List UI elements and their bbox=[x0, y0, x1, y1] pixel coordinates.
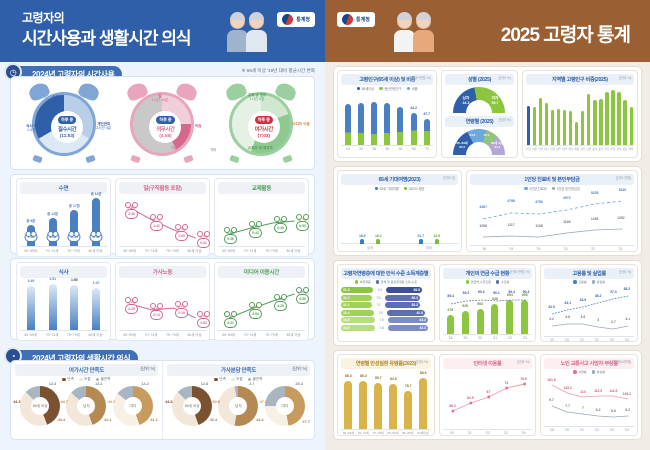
bar bbox=[599, 99, 602, 145]
point-label: 32.9 bbox=[548, 305, 555, 309]
chart-gender: 성별 (2025) (단위: %) 남자44.3 여자55.7 bbox=[445, 74, 513, 113]
donut-chart: 남자 44.7 42.1 13.2 bbox=[66, 386, 106, 426]
x-tick: 65~69세 bbox=[123, 248, 136, 253]
x-tick: 울산 bbox=[568, 147, 573, 151]
bar bbox=[384, 103, 390, 145]
chart-elderly-population: 고령인구(65세 이상) 및 비중 (단위: 만명, %) 65세이상 생산연령… bbox=[337, 70, 437, 158]
point-label: 6.2 bbox=[596, 408, 601, 412]
chart-title: 1인당 진료비 및 본인부담금 (단위: 천원) bbox=[470, 174, 634, 185]
x-tick: '22 bbox=[508, 336, 512, 340]
right-title: 2025 고령자 통계 bbox=[501, 20, 630, 47]
bar: 44.2 bbox=[411, 113, 417, 145]
chart-legend: 하위계층 전체 및 중상위계층 소득 수준 bbox=[341, 280, 431, 284]
point-3: 증 4분 0:31 bbox=[197, 233, 210, 248]
hbar-row: 33.4 '20 40.8 bbox=[341, 310, 431, 316]
x-tick: '15 bbox=[345, 147, 349, 151]
unit-label: (단위: 천원) bbox=[616, 176, 631, 181]
hbar-left: 31.6 bbox=[341, 287, 373, 293]
chart-title: 연령별 만성질환 유병률(2023) (단위: %) bbox=[341, 358, 431, 369]
clock-seg-2: 스포츠 및 레포츠 bbox=[248, 146, 273, 150]
x-tick: 남자 bbox=[367, 245, 373, 250]
bar-group: 1:49 1:51 1:50 1:47 bbox=[20, 280, 107, 330]
segment-label-1: 24.2 bbox=[469, 133, 475, 137]
chart-media: 미디어 이용시간 증 11분 3:21 증 18분 3:54 증 19분 bbox=[214, 262, 309, 341]
right-row-2: 65세 기대여명(2023) (단위: 년) 65세 기대여명 OECD 평균 … bbox=[333, 166, 642, 256]
bar bbox=[587, 94, 590, 145]
clock-tag: 하루 중 bbox=[58, 116, 76, 124]
agency-label: 통계청 bbox=[296, 16, 310, 23]
x-tick: 경기 bbox=[580, 147, 585, 151]
x-tick: '23 bbox=[618, 247, 622, 251]
elderly-couple-illustration bbox=[230, 14, 267, 52]
donut-center-label: 남자 bbox=[229, 397, 247, 415]
donut-value: 44.7 bbox=[60, 400, 67, 404]
donut-value: 44.7 bbox=[108, 400, 115, 404]
chart-work: 일(구직활동 포함) 증 8분 2:35 증 7분 1:42 증 9분 bbox=[115, 178, 210, 257]
left-header: 고령자의 시간사용과 생활시간 의식 통계청 bbox=[0, 0, 325, 62]
x-tick: 70~74세 bbox=[46, 332, 59, 337]
clock-foot-left bbox=[131, 155, 142, 164]
clock-value: (11:53) bbox=[60, 133, 75, 138]
donut-value: 43.4 bbox=[58, 418, 65, 422]
section1-note: ※ 65세 이상 '19년 대비 평균시간 변화 bbox=[242, 68, 315, 74]
donut-chart: 65세 이상 44.8 42.4 12.8 bbox=[172, 386, 212, 426]
year-label: '19 bbox=[377, 318, 386, 322]
hbar-right: 40.8 bbox=[387, 310, 425, 316]
right-panel: 통계청 2025 고령자 통계 고령인구(65세 이상) 및 비중 (단위: 만… bbox=[325, 0, 650, 450]
x-tick: 85~89세 bbox=[402, 431, 413, 435]
x-tick: 전북 bbox=[604, 147, 609, 151]
clock-value: (4:58) bbox=[159, 133, 171, 138]
semi-donut-chart: 65~69세35.3 24.2 16.1 80세 이상24.4 bbox=[453, 129, 505, 155]
x-tick: 65~69세 bbox=[222, 332, 235, 337]
x-axis: 전국 서울 부산 대구 인천 광주 대전 울산 세종 경기 강원 충북 충남 전… bbox=[526, 145, 634, 151]
point-label: 90.3 bbox=[523, 290, 530, 294]
bar: 증 12분 8:08 bbox=[49, 218, 57, 246]
taegeuk-icon bbox=[282, 14, 293, 25]
hbar-group: 31.6 '24 38.8 31.2 '23 38.3 31.1 '21 bbox=[341, 287, 431, 331]
bar bbox=[611, 90, 614, 145]
clock-seg-1: 학습 bbox=[195, 124, 202, 128]
x-tick: 여자 bbox=[426, 245, 432, 250]
x-tick: '19 bbox=[509, 247, 513, 251]
x-axis: '18 '19 '20 '21 '22 '23 bbox=[470, 245, 634, 251]
x-tick: 65~69세 bbox=[123, 332, 136, 337]
line-path bbox=[443, 371, 533, 429]
point-label: 111.5 bbox=[594, 389, 602, 393]
chart-title: 지역별 고령인구 비중(2025) (단위: %) bbox=[526, 74, 634, 85]
bar bbox=[371, 102, 377, 145]
chart-meal: 식사 1:49 1:51 1:50 1:47 bbox=[16, 262, 111, 341]
donut-row: 65세 이상 44.3 43.4 12.3 남자 44.7 42.1 13.2 … bbox=[15, 382, 158, 430]
line-path bbox=[443, 286, 533, 334]
point-label: 3 bbox=[597, 318, 599, 322]
x-tick: '21 bbox=[579, 428, 583, 432]
chart-legend: 1인당 진료비 1인당 본인부담금 bbox=[470, 186, 634, 191]
donut-center-label: 여자 bbox=[276, 397, 294, 415]
x-tick: 80~84세 bbox=[387, 431, 398, 435]
chart-title: 고령자연령층에 대한 인식 수준 소득계층별 bbox=[341, 268, 431, 279]
hbar-left: 33.4 bbox=[341, 310, 374, 316]
chart-plot: 감 5분 0:36 감 6분 0:43 감 5분 0:49 감 4분 0:50 bbox=[218, 196, 305, 246]
donut-value: 12.3 bbox=[49, 382, 56, 386]
year-label: '18 bbox=[377, 326, 386, 330]
x-tick: '20 bbox=[565, 428, 569, 432]
x-tick: 75~79세 bbox=[67, 248, 80, 253]
donut-chart: 남자 52.9 44.4 2.7 bbox=[218, 386, 258, 426]
clock-tag: 하루 중 bbox=[156, 116, 174, 124]
bar bbox=[397, 107, 403, 145]
bar bbox=[630, 107, 633, 145]
point-label: 4756 bbox=[535, 200, 543, 204]
donut-value: 44.3 bbox=[13, 400, 20, 404]
chart-plot: 32.9 34.1 34.9 36.2 37.3 38.2 3.2 3.6 3.… bbox=[544, 286, 634, 336]
chart-legend: 연금액 수급인원 수급률 bbox=[443, 280, 533, 284]
unit-label: (단위: %) bbox=[619, 270, 631, 275]
donut-value: 42.4 bbox=[210, 418, 217, 422]
chart-plot: 56.2 62.5 67 74 76.9 bbox=[443, 371, 533, 429]
right-row-4: 연령별 만성질환 유병률(2023) (단위: %) 86.3 86.2 85.… bbox=[333, 350, 642, 440]
line-paths bbox=[470, 193, 634, 245]
chart-title: 연령별 (2025) (단위: %) bbox=[445, 116, 513, 127]
chart-plot: 161.6 133.2 110 111.5 111.6 106.2 9.7 7.… bbox=[544, 376, 634, 426]
clock-center: 하루 중 필수시간 (11:53) bbox=[51, 111, 83, 143]
x-tick: 75~79세 bbox=[373, 431, 384, 435]
unit-label: (단위: %) bbox=[498, 76, 510, 81]
hbar-right: 38.3 bbox=[385, 295, 420, 301]
chart-plot: 44.2 47.7 bbox=[341, 93, 433, 145]
x-tick: '20 bbox=[478, 336, 482, 340]
bar: 증 17분 8:15 bbox=[70, 210, 78, 246]
point-label: 7.7 bbox=[565, 404, 570, 408]
x-axis: '20 '21 '22 '23 '24 bbox=[443, 429, 533, 435]
x-axis: '15 '20 '25 '30 '40 '50 '72 bbox=[341, 145, 433, 151]
point-label: 5.6 bbox=[611, 409, 616, 413]
x-tick: 전국 bbox=[526, 147, 531, 151]
donut-value: 41.1 bbox=[150, 418, 157, 422]
x-axis: 65~69세 70~74세 75~79세 80세 이상 bbox=[20, 246, 107, 253]
x-tick: 70~74세 bbox=[145, 248, 158, 253]
x-tick: '20 bbox=[536, 247, 540, 251]
bar: 증 11분 8:46 bbox=[92, 198, 100, 246]
clock-value: (7:03) bbox=[258, 133, 270, 138]
clock-label: 필수시간 bbox=[58, 125, 76, 133]
point-0: 증 11분 3:21 bbox=[224, 313, 237, 328]
point-label: 161.6 bbox=[547, 378, 556, 382]
chart-legend: 사망률 부상률 bbox=[544, 370, 634, 374]
x-axis: '18 '20 '21 '22 '23 '24 bbox=[544, 426, 634, 432]
x-tick: 80세 이상 bbox=[287, 332, 301, 337]
bar: 1:49 bbox=[27, 286, 35, 330]
clock-seg-0: 수면8시간 bbox=[51, 95, 60, 103]
chart-plot: 증 8분 2:35 증 7분 1:42 증 9분 1:00 증 4분 0:31 bbox=[119, 196, 206, 246]
clock-foot-right bbox=[85, 155, 96, 164]
chart-plot: 감 3분 2:25 감 2분 2:14 감 2분 2:19 감 3분 1:52 bbox=[119, 280, 206, 330]
right-header: 통계청 2025 고령자 통계 bbox=[325, 0, 650, 62]
point-label: 1198 bbox=[563, 220, 570, 224]
point-label: 4487 bbox=[479, 205, 487, 209]
right-row-3: 고령자연령층에 대한 인식 수준 소득계층별 하위계층 전체 및 중상위계층 소… bbox=[333, 260, 642, 346]
point-1: 감 2분 2:14 bbox=[150, 305, 163, 320]
point-label: 106.2 bbox=[623, 392, 632, 396]
point-1: 감 6분 0:43 bbox=[249, 223, 262, 238]
clock-seg-1: 식사 및 간식1시간 49분 bbox=[26, 124, 45, 132]
point-label: 74 bbox=[504, 381, 508, 385]
point-label: 38.2 bbox=[624, 287, 631, 291]
donut-value: 14.2 bbox=[141, 382, 148, 386]
left-title-line2: 시간사용과 생활시간 의식 bbox=[22, 24, 191, 49]
bar: 증 8분 7:56 bbox=[27, 225, 35, 246]
clocks-card: 하루 중 필수시간 (11:53) 수면8시간 식사 및 간식1시간 49분 개… bbox=[10, 76, 315, 170]
x-tick: 부산 bbox=[538, 147, 543, 151]
year-label: '23 bbox=[374, 296, 383, 300]
bar bbox=[569, 111, 572, 145]
x-tick: 세종 bbox=[574, 147, 579, 151]
bar bbox=[545, 103, 548, 145]
x-tick: 80세 이상 bbox=[188, 248, 202, 253]
chart-title: 노인 교통사고 사망자·부상률 (단위: 명/10만명) bbox=[544, 358, 634, 369]
donut-value: 27.7 bbox=[302, 420, 309, 424]
x-tick: '21 bbox=[467, 431, 471, 435]
x-tick: '19 bbox=[550, 338, 554, 342]
point-label: 1252 bbox=[617, 216, 625, 220]
x-tick: 경북 bbox=[616, 147, 621, 151]
x-tick: 70~74세 bbox=[145, 332, 158, 337]
clock-seg-1: 미디어 이용 bbox=[292, 122, 310, 126]
point-label: 36.2 bbox=[595, 294, 602, 298]
kostat-logo: 통계청 bbox=[337, 12, 375, 27]
x-tick: '23 bbox=[609, 338, 613, 342]
chart-internet-usage: 인터넷 이용률 (단위: %) 56.2 62.5 67 74 bbox=[439, 354, 537, 436]
x-tick: '72 bbox=[425, 147, 429, 151]
donut-center-label: 65세 이상 bbox=[183, 397, 201, 415]
clock-obligatory-time: 하루 중 의무시간 (4:58) 일1시간 44분 학습 이동 가사 bbox=[125, 82, 199, 162]
x-tick: 80세 이상 bbox=[287, 248, 301, 253]
charts-row1: 수면 증 8분 7:56 증 12분 8:08 증 17분 8:15 bbox=[11, 175, 314, 260]
chart-plot: 86.3 86.2 85.7 84.8 78.7 88.6 bbox=[341, 371, 431, 429]
x-tick: 75~79세 bbox=[265, 332, 278, 337]
x-tick: '20 bbox=[359, 147, 363, 151]
hbar-left: 31.2 bbox=[341, 295, 372, 301]
chart-title: 성별 (2025) (단위: %) bbox=[445, 74, 513, 85]
point-3: 증 21분 4:50 bbox=[296, 289, 309, 304]
point-label: 90.1 bbox=[493, 291, 500, 295]
x-tick: 대전 bbox=[562, 147, 567, 151]
chart-life-expectancy: 65세 기대여명(2023) (단위: 년) 65세 기대여명 OECD 평균 … bbox=[337, 170, 462, 252]
bar: 85.7 bbox=[374, 383, 382, 429]
bar bbox=[345, 104, 351, 145]
hbar-left: 34.5 bbox=[341, 317, 375, 323]
bar: 84.8 bbox=[389, 384, 397, 429]
x-tick: 대구 bbox=[544, 147, 549, 151]
year-label: '21 bbox=[374, 303, 383, 307]
bar-group: 86.3 86.2 85.7 84.8 78.7 88.6 bbox=[341, 371, 431, 429]
clock-seg-0: 교제 및 참여1시간 5분 bbox=[248, 93, 267, 101]
x-tick: 강원 bbox=[586, 147, 591, 151]
x-tick: '23 bbox=[523, 336, 527, 340]
point-label: 90.4 bbox=[508, 290, 515, 294]
donut-value: 52.9 bbox=[212, 400, 219, 404]
charts-row1-card: 수면 증 8분 7:56 증 12분 8:08 증 17분 8:15 bbox=[10, 174, 315, 254]
bar bbox=[539, 98, 542, 145]
x-tick: 65~69세 bbox=[24, 248, 37, 253]
x-tick: '23 bbox=[609, 428, 613, 432]
x-tick: 80세 이상 bbox=[188, 332, 202, 337]
clock-label: 의무시간 bbox=[156, 125, 174, 133]
chart-legend: 65세 기대여명 OECD 평균 bbox=[341, 186, 458, 191]
chart-income-perception: 고령자연령층에 대한 인식 수준 소득계층별 하위계층 전체 및 중상위계층 소… bbox=[337, 264, 435, 342]
hbar-row: 34.5 '19 43.2 bbox=[341, 317, 431, 323]
elderly-couple-illustration bbox=[397, 14, 434, 52]
bar: 1:47 bbox=[92, 288, 100, 330]
point-2: 증 19분 4:20 bbox=[274, 296, 287, 311]
bar bbox=[593, 100, 596, 145]
bar bbox=[581, 111, 584, 145]
point-label: 62.5 bbox=[467, 396, 474, 400]
hbar-left: 31.1 bbox=[341, 302, 372, 308]
segment-label-male: 남자44.3 bbox=[462, 96, 469, 105]
x-tick: '50 bbox=[411, 147, 415, 151]
donut-center-label: 여자 bbox=[124, 397, 142, 415]
point-label: 37.3 bbox=[610, 290, 617, 294]
x-tick: '30 bbox=[385, 147, 389, 151]
donut-group-leisure: 여가시간 만족도 (단위: %) 만족 보통 불만족 65세 이상 44.3 4… bbox=[11, 361, 163, 439]
donut-value: 12.8 bbox=[201, 382, 208, 386]
chart-title: 개인의 연금 수급 현황 (단위: 천명, %) bbox=[443, 268, 533, 279]
year-label: '24 bbox=[375, 288, 384, 292]
chart-traffic-accident: 노인 교통사고 사망자·부상률 (단위: 명/10만명) 사망률 부상률 161… bbox=[540, 354, 638, 436]
point-label: 76.9 bbox=[520, 377, 527, 381]
hbar-left: 34.8 bbox=[341, 325, 375, 331]
charts-row2: 식사 1:49 1:51 1:50 1:47 bbox=[11, 259, 314, 344]
bar bbox=[605, 92, 608, 145]
x-tick: 65~69세 bbox=[24, 332, 37, 337]
point-label: 90.2 bbox=[463, 291, 470, 295]
kostat-logo: 통계청 bbox=[277, 12, 315, 27]
x-tick: '21 bbox=[493, 336, 497, 340]
point-label: 1098 bbox=[479, 224, 487, 228]
x-tick: 75~79세 bbox=[166, 248, 179, 253]
bar-group: 증 8분 7:56 증 12분 8:08 증 17분 8:15 증 11분 8:… bbox=[20, 196, 107, 246]
x-tick: '22 bbox=[594, 428, 598, 432]
chart-title: 미디어 이용시간 bbox=[218, 266, 305, 278]
point-label: 6.2 bbox=[625, 408, 630, 412]
x-axis: 남자 여자 bbox=[341, 243, 458, 250]
x-tick: '23 bbox=[503, 431, 507, 435]
point-label: 34.1 bbox=[564, 301, 571, 305]
chart-title: 고령인구(65세 이상) 및 비중 (단위: 만명, %) bbox=[341, 74, 433, 85]
bar-group: 44.2 47.7 bbox=[341, 93, 433, 145]
clock-foot-left bbox=[32, 155, 43, 164]
x-tick: 75~79세 bbox=[265, 248, 278, 253]
segment-label-3: 80세 이상24.4 bbox=[491, 141, 503, 149]
clock-foot-right bbox=[184, 155, 195, 164]
point-3: 감 3분 1:52 bbox=[197, 313, 210, 328]
point-label: 4798 bbox=[507, 199, 515, 203]
point-0: 감 3분 2:25 bbox=[125, 299, 138, 314]
clock-foot-right bbox=[282, 155, 293, 164]
chart-title: 인터넷 이용률 (단위: %) bbox=[443, 358, 533, 369]
donut-value: 44.8 bbox=[165, 400, 172, 404]
x-tick: 광주 bbox=[556, 147, 561, 151]
x-axis: '18 '19 '20 '21 '22 '23 bbox=[443, 334, 533, 340]
x-tick: '20 bbox=[565, 338, 569, 342]
gender-age-stack: 성별 (2025) (단위: %) 남자44.3 여자55.7 bbox=[441, 70, 517, 158]
x-tick: 70~74세 bbox=[46, 248, 59, 253]
unit-label: (단위: %) bbox=[140, 366, 155, 372]
x-tick: 70~74세 bbox=[244, 248, 257, 253]
x-tick: '22 bbox=[485, 431, 489, 435]
x-tick: 80세 이상 bbox=[89, 332, 103, 337]
hbar-row: 31.2 '23 38.3 bbox=[341, 295, 431, 301]
x-tick: 90세이상 bbox=[417, 431, 429, 435]
chart-title: 식사 bbox=[20, 266, 107, 278]
point-1: 증 18분 3:54 bbox=[249, 304, 262, 319]
unit-label: (단위: 만명, %) bbox=[411, 76, 431, 81]
chart-medical-cost: 1인당 진료비 및 본인부담금 (단위: 천원) 1인당 진료비 1인당 본인부… bbox=[466, 170, 638, 252]
chart-employment: 고용률 및 실업률 (단위: %) 고용률 실업률 32.9 34.1 34. bbox=[540, 264, 638, 342]
point-label: 34.9 bbox=[580, 298, 587, 302]
x-tick: 65~69세 bbox=[343, 431, 354, 435]
elderly-woman-figure bbox=[416, 14, 434, 52]
chart-title: 가사노동 bbox=[119, 266, 206, 278]
segment-label-female: 여자55.7 bbox=[491, 96, 498, 105]
bar-national bbox=[527, 106, 530, 145]
bar bbox=[557, 109, 560, 145]
chart-plot bbox=[526, 87, 634, 145]
taegeuk-icon bbox=[342, 14, 353, 25]
x-tick: 65~69세 bbox=[222, 248, 235, 253]
x-tick: 서울 bbox=[532, 147, 537, 151]
infographic-page: 고령자의 시간사용과 생활시간 의식 통계청 ◷ 2024년 고령자의 시간사용… bbox=[0, 0, 650, 450]
charts-row2-card: 식사 1:49 1:51 1:50 1:47 bbox=[10, 258, 315, 340]
left-panel: 고령자의 시간사용과 생활시간 의식 통계청 ◷ 2024년 고령자의 시간사용… bbox=[0, 0, 325, 450]
x-tick: '24 bbox=[624, 428, 628, 432]
bar bbox=[533, 107, 536, 145]
unit-label: (단위: %) bbox=[498, 118, 510, 123]
hbar-row: 31.6 '24 38.8 bbox=[341, 287, 431, 293]
clock-tag: 하루 중 bbox=[255, 116, 273, 124]
x-tick: 70~74세 bbox=[244, 332, 257, 337]
x-tick: '24 bbox=[521, 431, 525, 435]
bar bbox=[551, 110, 554, 145]
point-2: 감 2분 2:19 bbox=[175, 303, 188, 318]
clock-center: 하루 중 의무시간 (4:58) bbox=[149, 111, 181, 143]
clock-leisure-time: 하루 중 여가시간 (7:03) 교제 및 참여1시간 5분 미디어 이용 스포… bbox=[224, 82, 298, 162]
x-tick: '18 bbox=[550, 428, 554, 432]
x-tick: 75~79세 bbox=[166, 332, 179, 337]
chart-age: 연령별 (2025) (단위: %) 65~69세35.3 24.2 16.1 bbox=[445, 116, 513, 155]
donut-value: 47.2 bbox=[260, 400, 267, 404]
hbar-row: 34.8 '18 43.3 bbox=[341, 325, 431, 331]
x-tick: '21 bbox=[579, 338, 583, 342]
clock-label: 여가시간 bbox=[255, 125, 273, 133]
segment-label-0: 65~69세35.3 bbox=[456, 141, 467, 149]
clock-seg-0: 일1시간 44분 bbox=[151, 94, 168, 102]
x-tick: 인천 bbox=[550, 147, 555, 151]
chart-plot: 증 11분 3:21 증 18분 3:54 증 19분 4:20 증 21분 4… bbox=[218, 280, 305, 330]
clock-center: 하루 중 여가시간 (7:03) bbox=[248, 111, 280, 143]
point-label: 9.7 bbox=[549, 398, 554, 402]
point-label: 1236 bbox=[591, 217, 599, 221]
point-label: 3.2 bbox=[549, 317, 554, 321]
point-label: 89.4 bbox=[447, 294, 454, 298]
donut-group-title: 가사분담 만족도 (단위: %) bbox=[167, 364, 310, 376]
bar: 1:50 bbox=[70, 285, 78, 330]
bar bbox=[575, 122, 578, 145]
point-0: 감 5분 0:36 bbox=[224, 229, 237, 244]
header-notch bbox=[480, 55, 496, 62]
